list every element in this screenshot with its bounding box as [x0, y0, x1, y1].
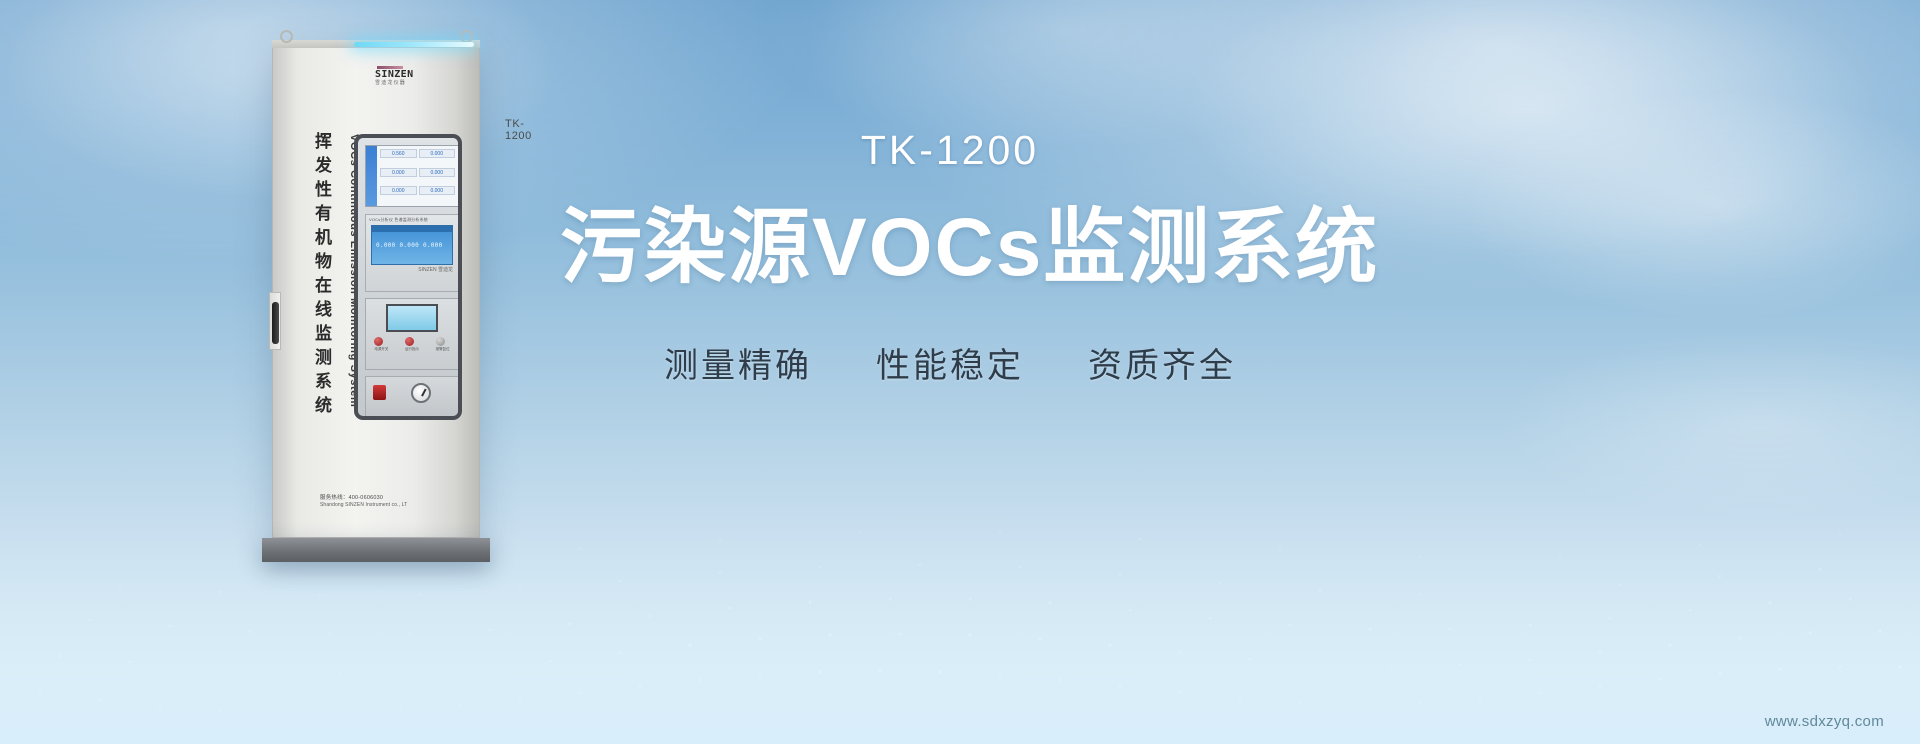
- cabinet-brand-logo: SINZEN 雪迪龙仪器: [375, 66, 427, 86]
- hmi-value: 0.000: [381, 187, 416, 196]
- feature-item-stability: 性能稳定: [876, 338, 1024, 387]
- hmi-value: 0.000: [420, 169, 455, 178]
- run-indicator-icon: [405, 337, 414, 346]
- knob-label: 报警复位: [436, 347, 450, 352]
- service-hotline: 服务热线：400-0606030: [320, 494, 460, 502]
- cabinet-base-plinth: [262, 538, 490, 562]
- gas-path-panel: [365, 376, 459, 418]
- gc-analyzer-module: VOCs分析仪 色谱监测分析系统 0.000 0.000 0.000 SINZE…: [365, 214, 459, 292]
- knob-group: 电源开关: [374, 337, 388, 352]
- analyzer-reading: 0.000 0.000 0.000: [376, 242, 443, 249]
- cloud-wisp: [1460, 90, 1920, 320]
- control-panel-module: 电源开关 运行指示 报警复位: [365, 298, 459, 370]
- cabinet-door-grip: [272, 302, 279, 344]
- site-watermark: www.sdxzyq.com: [1765, 713, 1884, 730]
- cabinet-vertical-chinese-label: 挥发性有机物在线监测系统: [312, 132, 329, 420]
- banner-model-label: TK-1200: [560, 130, 1340, 171]
- alarm-reset-knob-icon: [436, 337, 445, 346]
- hmi-value: 0.000: [420, 150, 455, 159]
- hmi-touch-screen: 0.560 0.000 0.000 0.000 0.000: [365, 145, 459, 207]
- hmi-cell: 0.000: [419, 168, 456, 177]
- mini-hmi-screen: [386, 304, 438, 332]
- knob-group: 运行指示: [405, 337, 419, 352]
- banner-copy-block: TK-1200 污染源VOCs监测系统 测量精确 性能稳定 资质齐全: [560, 130, 1340, 387]
- analyzer-label: VOCs分析仪 色谱监测分析系统: [366, 215, 458, 223]
- hmi-cell: 0.000: [419, 149, 456, 158]
- product-cabinet-image: SINZEN 雪迪龙仪器 TK-1200 挥发性有机物在线监测系统 VOCs C…: [262, 24, 490, 554]
- hero-banner: SINZEN 雪迪龙仪器 TK-1200 挥发性有机物在线监测系统 VOCs C…: [0, 0, 1920, 744]
- company-name-en: Shandong SINZEN Instrument co., LT: [320, 502, 460, 510]
- knob-label: 运行指示: [405, 347, 419, 352]
- knob-group: 报警复位: [436, 337, 450, 352]
- cloud-wisp: [760, 0, 1380, 150]
- analyzer-display-header: [372, 226, 452, 232]
- led-status-strip: [354, 42, 474, 47]
- hmi-value: 0.000: [420, 187, 455, 196]
- cabinet-model-tag: TK-1200: [505, 118, 532, 142]
- analyzer-display: 0.000 0.000 0.000: [371, 225, 453, 265]
- feature-item-accuracy: 测量精确: [664, 338, 812, 387]
- feature-item-certification: 资质齐全: [1088, 338, 1236, 387]
- analyzer-brand-mark: SINZEN 雪迪龙: [366, 265, 458, 273]
- cabinet-service-label: 服务热线：400-0606030 Shandong SINZEN Instrum…: [320, 494, 460, 510]
- hmi-cell: 0.000: [419, 186, 456, 195]
- hmi-cell: 0.560: [380, 149, 417, 158]
- brand-name: SINZEN: [375, 70, 427, 80]
- instrument-window: 0.560 0.000 0.000 0.000 0.000: [354, 134, 462, 420]
- hmi-value: 0.000: [381, 169, 416, 178]
- power-knob-icon: [374, 337, 383, 346]
- banner-headline: 污染源VOCs监测系统: [560, 205, 1340, 292]
- banner-feature-list: 测量精确 性能稳定 资质齐全: [560, 338, 1340, 387]
- control-knob-row: 电源开关 运行指示 报警复位: [366, 337, 458, 352]
- hmi-cell: 0.000: [380, 168, 417, 177]
- hmi-side-rail: [366, 146, 377, 206]
- lifting-ring-icon: [280, 30, 293, 43]
- hmi-readout-grid: 0.560 0.000 0.000 0.000 0.000: [377, 146, 458, 206]
- hmi-cell: 0.000: [380, 186, 417, 195]
- emergency-stop-icon: [373, 385, 386, 400]
- pressure-gauge-icon: [411, 383, 431, 403]
- knob-label: 电源开关: [374, 347, 388, 352]
- brand-subtitle: 雪迪龙仪器: [375, 81, 427, 86]
- hmi-value: 0.560: [381, 150, 416, 159]
